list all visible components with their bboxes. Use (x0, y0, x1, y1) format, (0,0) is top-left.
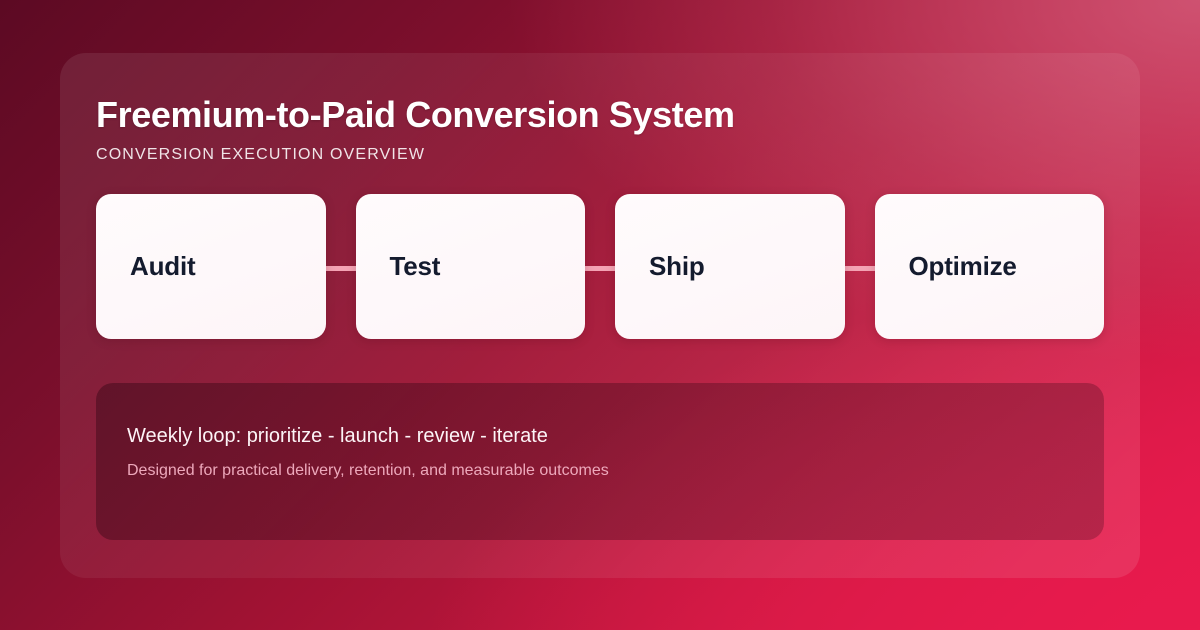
step-label: Audit (130, 251, 195, 282)
step-card-test[interactable]: Test (356, 194, 586, 339)
step-label: Test (390, 251, 441, 282)
hero-panel: Freemium-to-Paid Conversion System CONVE… (60, 53, 1140, 578)
footer-primary-text: Weekly loop: prioritize - launch - revie… (127, 423, 1072, 450)
step-label: Ship (649, 251, 705, 282)
step-card-ship[interactable]: Ship (615, 194, 845, 339)
footer-secondary-text: Designed for practical delivery, retenti… (127, 460, 1072, 482)
page-subtitle: CONVERSION EXECUTION OVERVIEW (96, 146, 1104, 164)
step-card-audit[interactable]: Audit (96, 194, 326, 339)
process-steps: Audit Test Ship Optimize (96, 194, 1104, 339)
header: Freemium-to-Paid Conversion System CONVE… (96, 95, 1104, 164)
footer-panel: Weekly loop: prioritize - launch - revie… (96, 383, 1104, 540)
step-label: Optimize (909, 251, 1017, 282)
page-title: Freemium-to-Paid Conversion System (96, 95, 1104, 135)
step-card-optimize[interactable]: Optimize (875, 194, 1105, 339)
